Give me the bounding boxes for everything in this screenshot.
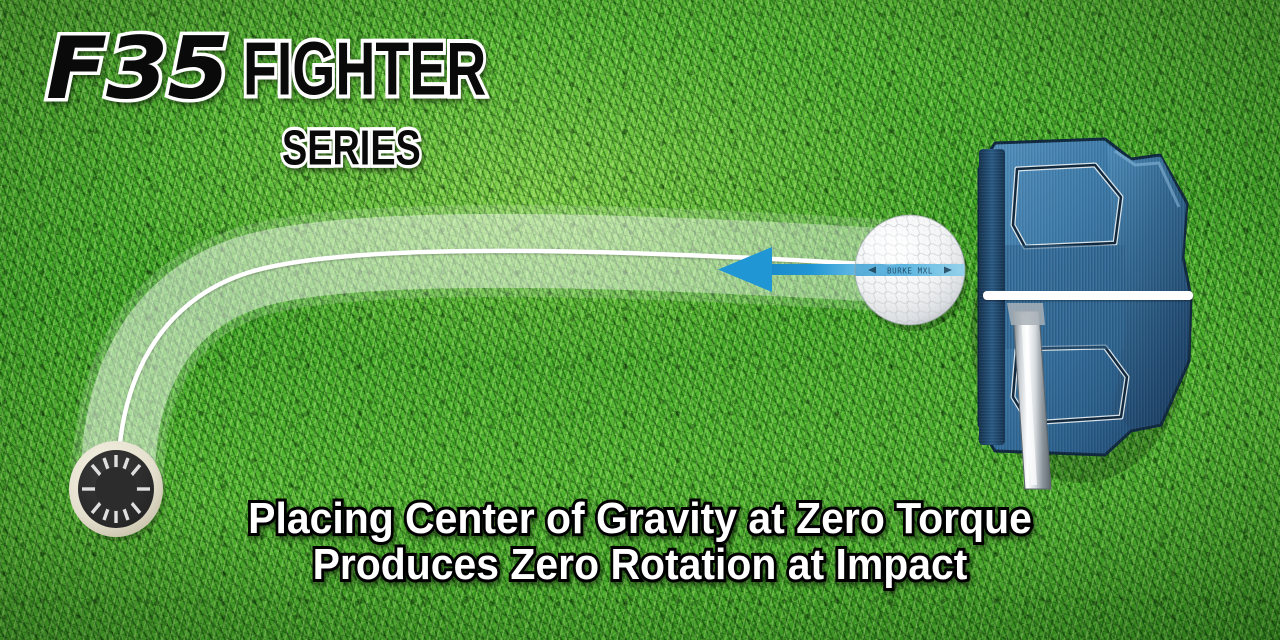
logo-top-row: F35 FIGHTER [46, 26, 533, 112]
logo-fighter-text: FIGHTER [243, 31, 486, 106]
brand-logo: F35 FIGHTER SERIES [46, 26, 533, 168]
putter-club [955, 125, 1215, 495]
ball-stripe-text: BURKE MXL [887, 267, 933, 276]
golf-ball: BURKE MXL [855, 215, 968, 331]
putter-alignment-line [983, 291, 1193, 300]
logo-series-text: SERIES [282, 124, 498, 173]
putter-upper-cutout [1013, 165, 1121, 247]
logo-model-text: F35 [46, 26, 228, 112]
putter-hosel [1007, 303, 1045, 325]
advertisement-canvas: BURKE MXL [0, 0, 1280, 640]
